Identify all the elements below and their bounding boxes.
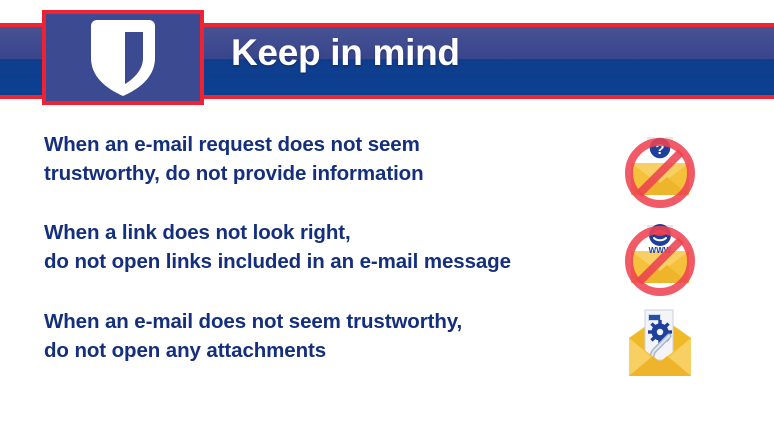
tip-item-1: When an e-mail request does not seem tru… bbox=[44, 130, 604, 188]
tip-1-line-2: trustworthy, do not provide information bbox=[44, 159, 604, 188]
tip-3-line-2: do not open any attachments bbox=[44, 336, 604, 365]
tip-1-line-1: When an e-mail request does not seem bbox=[44, 130, 604, 159]
page-title: Keep in mind bbox=[231, 34, 460, 71]
tip-item-2: When a link does not look right, do not … bbox=[44, 218, 604, 276]
tips-list: When an e-mail request does not seem tru… bbox=[0, 99, 774, 423]
tip-3-line-1: When an e-mail does not seem trustworthy… bbox=[44, 307, 604, 336]
email-attachment-virus-icon bbox=[617, 302, 703, 388]
no-suspicious-email-icon: ? bbox=[617, 125, 703, 211]
slide-root: Keep in mind When an e-mail request does… bbox=[0, 0, 774, 423]
tip-item-3: When an e-mail does not seem trustworthy… bbox=[44, 307, 604, 365]
logo-badge bbox=[42, 10, 204, 105]
shield-icon bbox=[46, 14, 200, 101]
tip-2-line-2: do not open links included in an e-mail … bbox=[44, 247, 604, 276]
tip-2-line-1: When a link does not look right, bbox=[44, 218, 604, 247]
no-email-link-icon: WWW bbox=[617, 213, 703, 299]
